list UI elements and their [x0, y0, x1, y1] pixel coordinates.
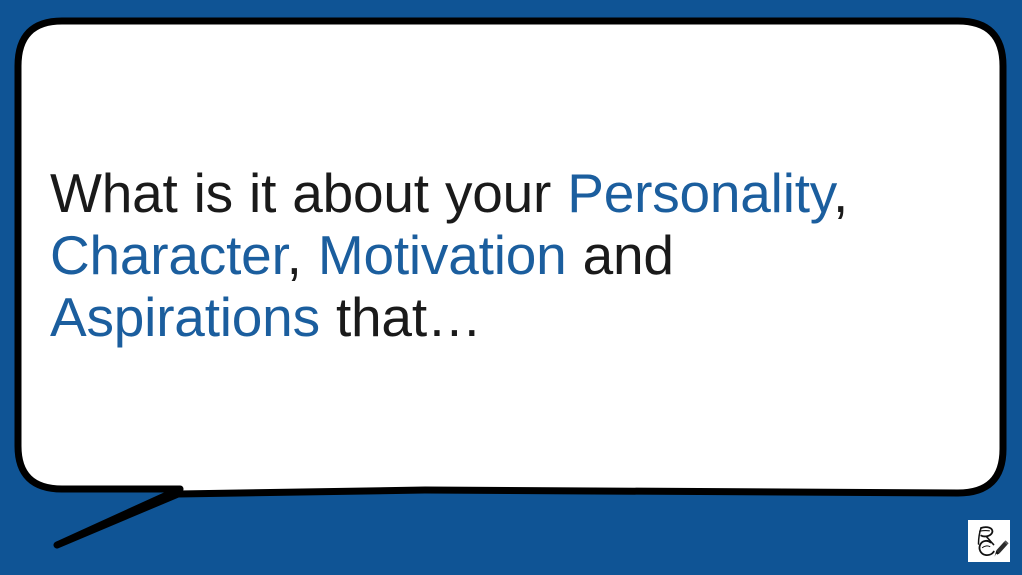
quote-segment-1: Personality: [567, 162, 833, 224]
quote-segment-6: and: [567, 224, 687, 286]
quote-segment-0: What is it about your: [50, 162, 567, 224]
rc-monogram-icon: [968, 520, 1010, 562]
quote-segment-2: ,: [833, 162, 864, 224]
quote-text: What is it about your Personality, Chara…: [50, 162, 930, 348]
quote-segment-7: Aspirations: [50, 286, 320, 348]
rc-monogram-logo[interactable]: [968, 520, 1010, 562]
quote-segment-4: ,: [287, 224, 318, 286]
slide-canvas: What is it about your Personality, Chara…: [0, 0, 1022, 575]
quote-segment-8: that…: [320, 286, 482, 348]
quote-segment-5: Motivation: [318, 224, 567, 286]
quote-segment-3: Character: [50, 224, 287, 286]
